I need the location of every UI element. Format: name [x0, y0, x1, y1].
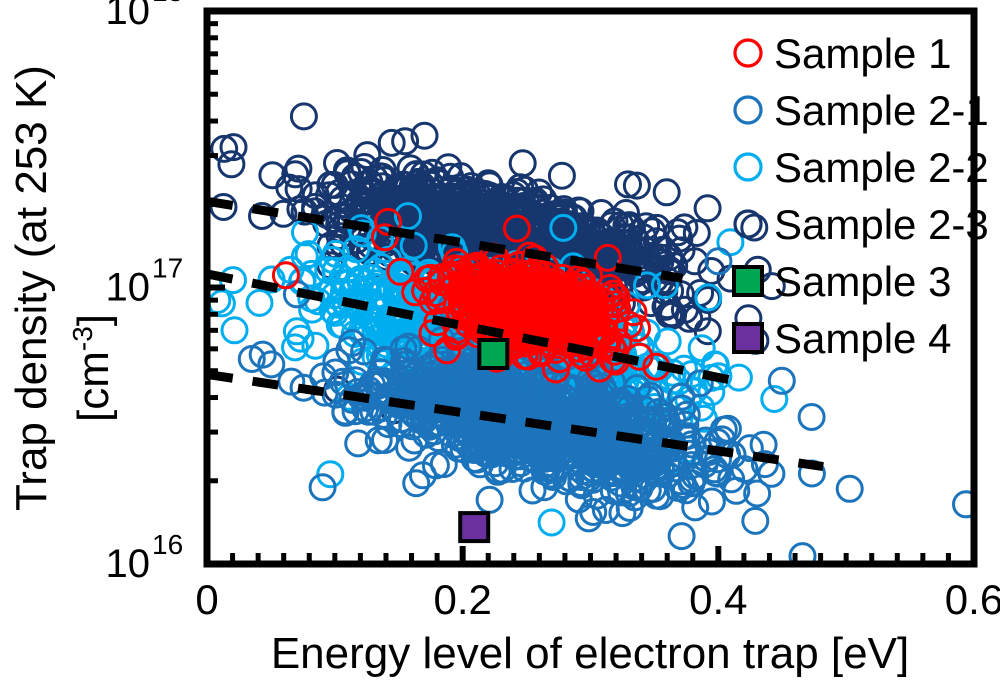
y-tick-mantissa: 10	[106, 266, 151, 310]
y-unit-base: [cm	[69, 351, 118, 422]
legend-label: Sample 4	[774, 315, 951, 362]
x-axis-title-group: Energy level of electron trap [eV]	[271, 629, 909, 678]
scatter-plot: 00.20.40.6101810171016 Sample 1Sample 2-…	[0, 0, 1000, 683]
x-axis-title: Energy level of electron trap [eV]	[271, 629, 909, 678]
legend-square-icon	[734, 324, 762, 352]
legend-label: Sample 2-1	[774, 87, 989, 134]
y-tick-mantissa: 10	[106, 0, 151, 33]
y-tick-exponent: 18	[152, 0, 183, 7]
y-unit-exponent: -3	[67, 326, 98, 351]
marker-sample-3	[479, 340, 507, 368]
x-tick-label: 0.6	[945, 576, 1000, 623]
y-unit-close: ]	[69, 314, 118, 326]
legend-label: Sample 2-3	[774, 201, 989, 248]
y-axis-title-group: Trap density (at 253 K)	[7, 65, 56, 511]
legend-label: Sample 1	[774, 30, 951, 77]
marker-sample-4	[460, 513, 488, 541]
y-axis-title-main: Trap density (at 253 K)	[7, 65, 56, 511]
x-tick-label: 0.2	[434, 576, 492, 623]
figure-container: 00.20.40.6101810171016 Sample 1Sample 2-…	[0, 0, 1000, 683]
x-tick-label: 0.4	[689, 576, 747, 623]
legend-square-icon	[734, 267, 762, 295]
legend-label: Sample 3	[774, 258, 951, 305]
legend-item-sample-2-2[interactable]: Sample 2-2	[735, 144, 989, 191]
x-tick-label: 0	[195, 576, 218, 623]
legend-item-sample-2-1[interactable]: Sample 2-1	[735, 87, 989, 134]
legend-label: Sample 2-2	[774, 144, 989, 191]
y-tick-exponent: 17	[152, 253, 183, 284]
legend-item-sample-2-3[interactable]: Sample 2-3	[735, 201, 989, 248]
y-tick-exponent: 16	[152, 529, 183, 560]
y-tick-mantissa: 10	[106, 542, 151, 586]
